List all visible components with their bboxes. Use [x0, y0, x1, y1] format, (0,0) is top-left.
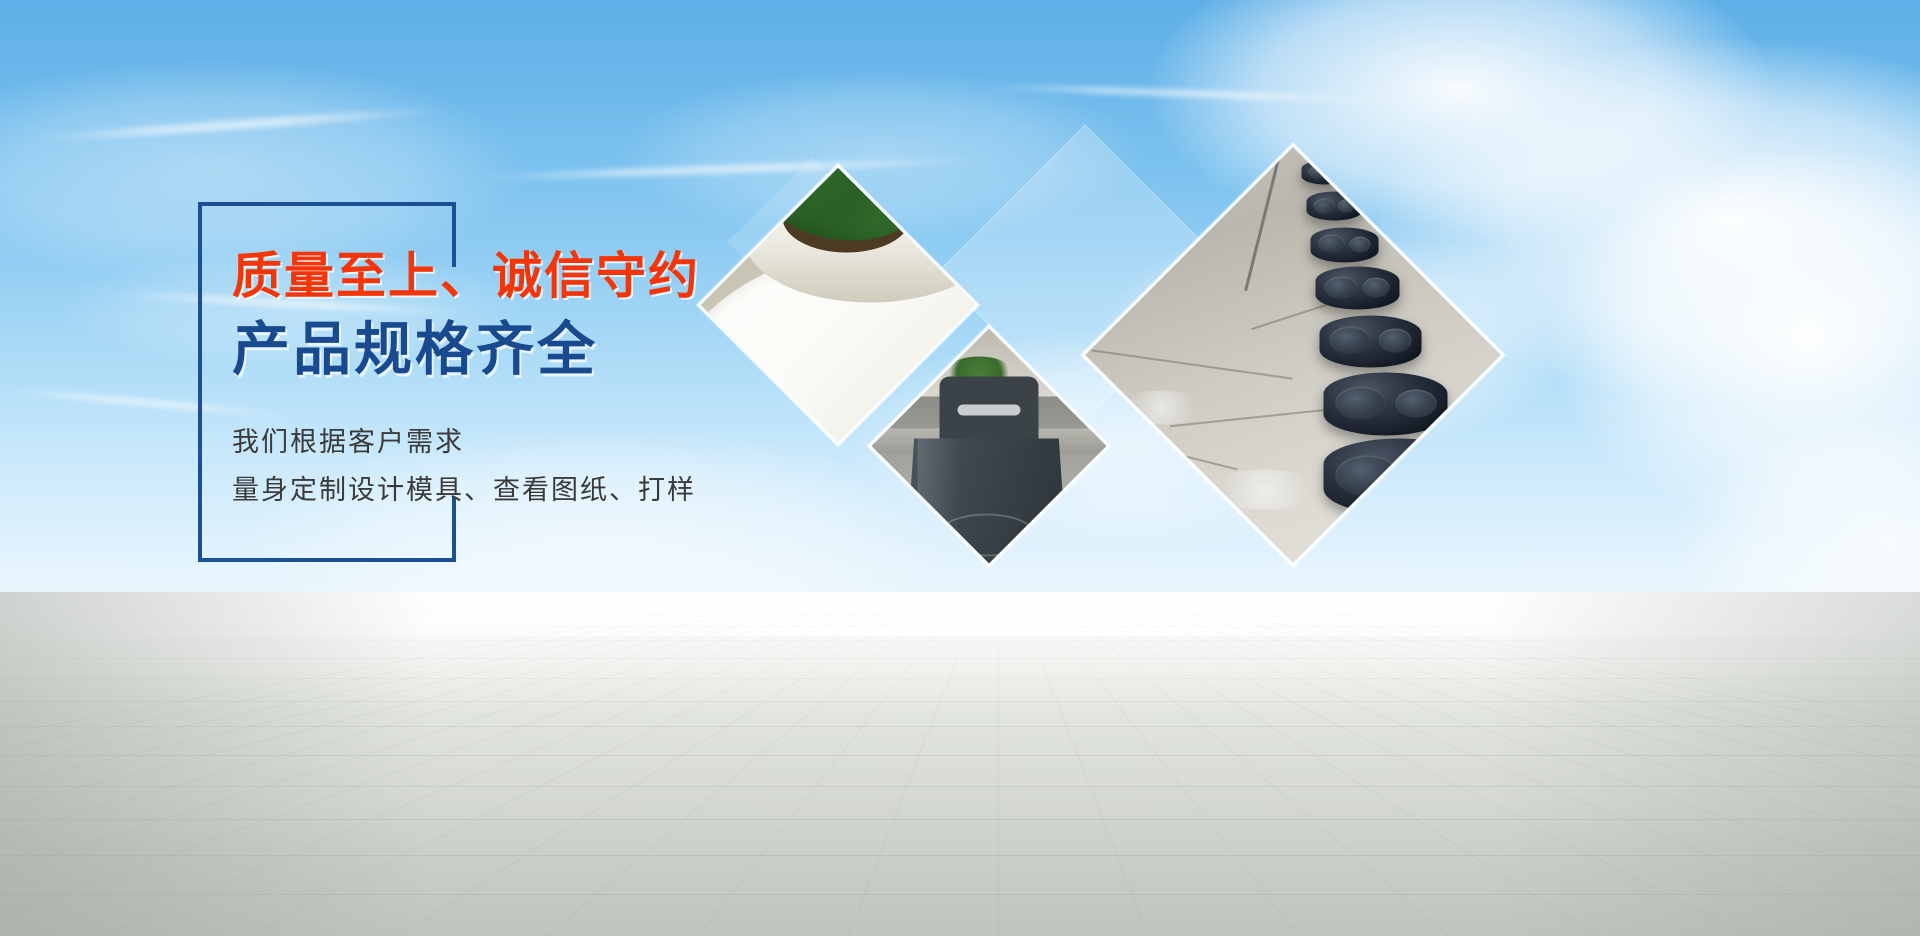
headline-primary: 质量至上、诚信守约 — [232, 248, 952, 304]
barrel-mold — [1311, 227, 1379, 262]
paved-ground — [0, 592, 1920, 936]
cloud-streak — [470, 156, 990, 182]
barrel-mold — [1315, 267, 1399, 310]
headline-secondary: 产品规格齐全 — [232, 318, 952, 382]
ground-shadow-right — [1490, 592, 1920, 936]
subtext-line-1: 我们根据客户需求 — [232, 418, 952, 466]
banner-text-block: 质量至上、诚信守约 产品规格齐全 我们根据客户需求 量身定制设计模具、查看图纸、… — [232, 248, 952, 514]
promo-banner: 质量至上、诚信守约 产品规格齐全 我们根据客户需求 量身定制设计模具、查看图纸、… — [0, 0, 1920, 936]
barrel-mold — [1324, 373, 1448, 436]
cloud-streak — [30, 105, 450, 143]
subtext-line-2: 量身定制设计模具、查看图纸、打样 — [232, 466, 952, 514]
ground-shadow-left — [0, 592, 430, 936]
bin-backboard — [939, 376, 1039, 446]
subtext-block: 我们根据客户需求 量身定制设计模具、查看图纸、打样 — [232, 418, 952, 514]
bin-handle-slot — [957, 404, 1021, 415]
cloud — [1550, 150, 1920, 530]
cloud-streak — [980, 83, 1400, 105]
barrel-mold — [1319, 315, 1421, 367]
